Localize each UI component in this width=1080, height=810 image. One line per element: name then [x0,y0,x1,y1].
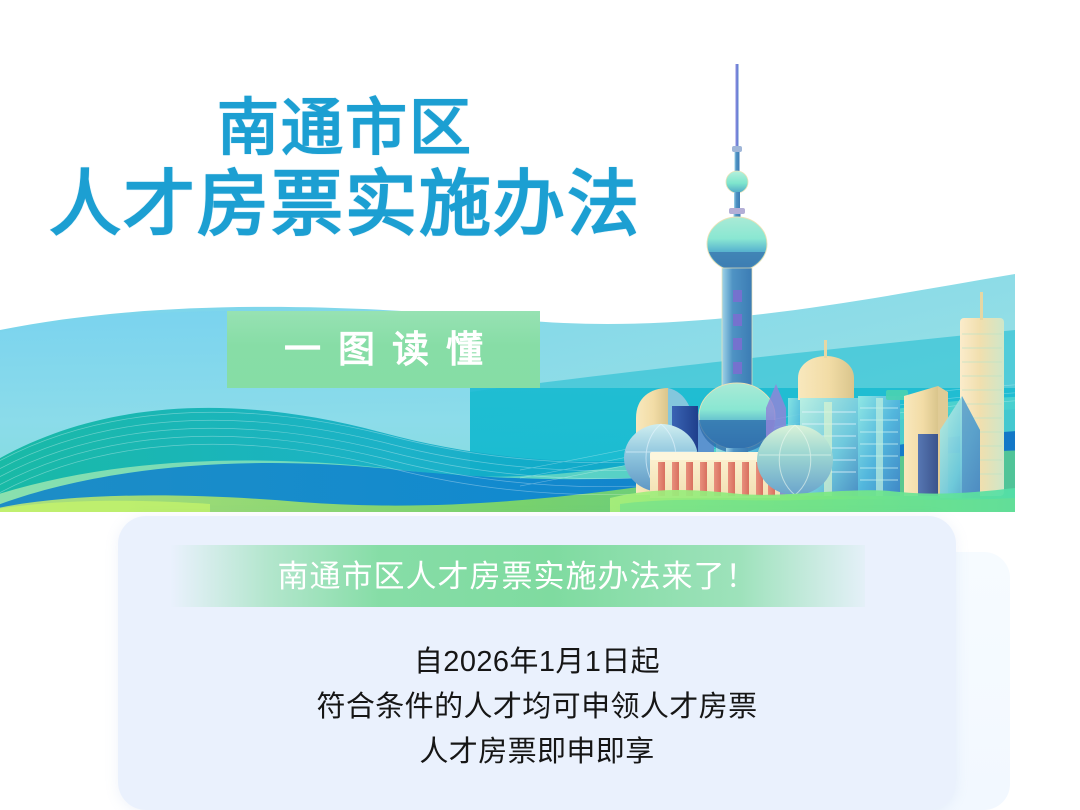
card-banner-title: 南通市区人才房票实施办法来了！ [278,561,758,592]
card-banner: 南通市区人才房票实施办法来了！ [170,545,865,607]
body-line-1: 自2026年1月1日起 [118,640,956,685]
summary-card: 南通市区人才房票实施办法来了！ 自2026年1月1日起 符合条件的人才均可申领人… [118,516,956,810]
badge-label: 一图读懂 [267,331,500,368]
yitu-dudong-badge: 一图读懂 [227,311,540,388]
body-line-3: 人才房票即申即享 [118,730,956,775]
infographic-page: 南通市区 人才房票实施办法 一图读懂 南通市区人才房票实施办法来了！ 自2026… [0,0,1080,810]
card-body: 自2026年1月1日起 符合条件的人才均可申领人才房票 人才房票即申即享 [118,640,956,775]
hero-banner: 南通市区 人才房票实施办法 [0,0,1015,512]
body-line-2: 符合条件的人才均可申领人才房票 [118,685,956,730]
hero-illustration [0,0,1015,512]
